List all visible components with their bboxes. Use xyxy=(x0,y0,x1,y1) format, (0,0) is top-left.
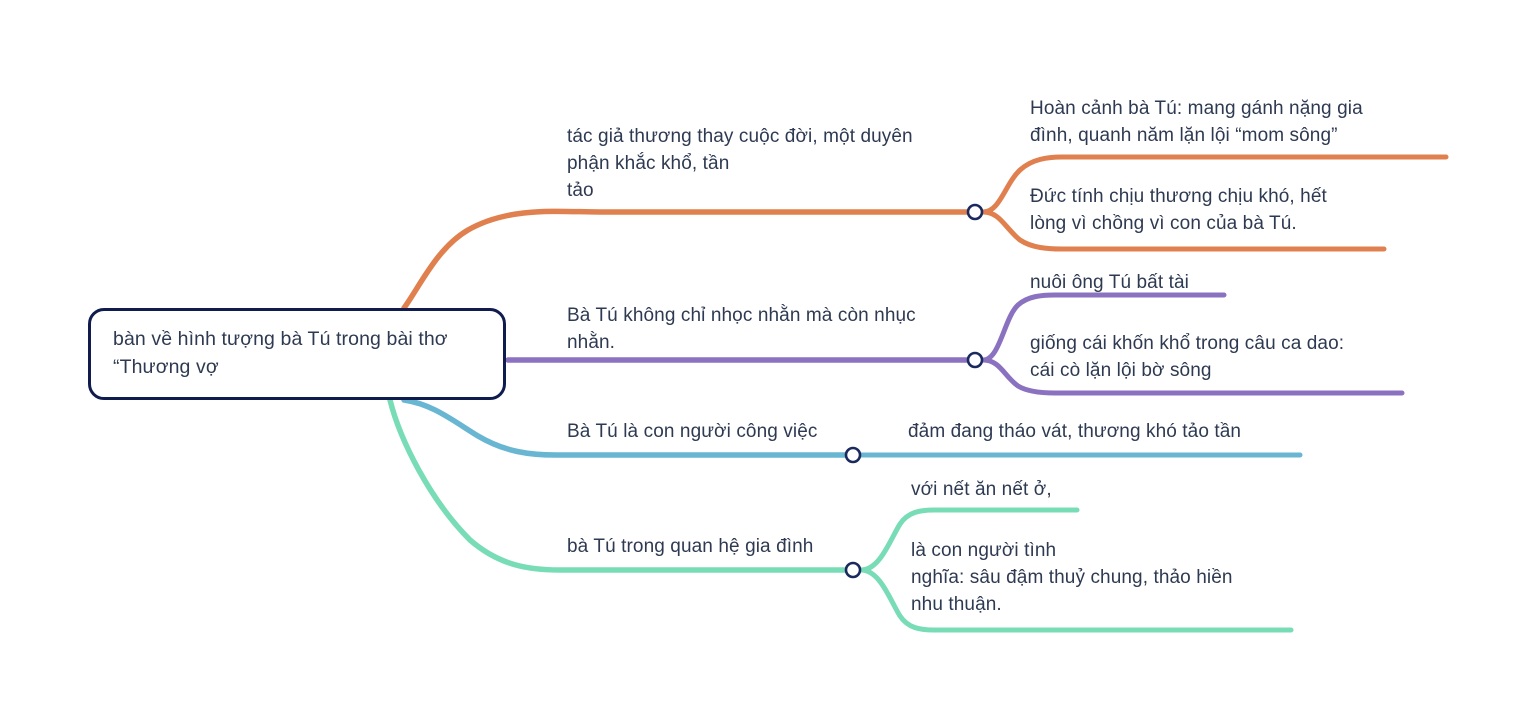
branch-3-label[interactable]: Bà Tú là con người công việc xyxy=(567,419,867,446)
mindmap-canvas: bàn về hình tượng bà Tú trong bài thơ “T… xyxy=(0,0,1513,726)
junction-branch-3 xyxy=(846,448,860,462)
branch-2-child-1-label[interactable]: nuôi ông Tú bất tài xyxy=(1030,270,1420,297)
branch-2-label[interactable]: Bà Tú không chỉ nhọc nhằn mà còn nhục nh… xyxy=(567,303,967,357)
connector-root-to-branch-1 xyxy=(404,211,968,308)
branch-1-child-1-label[interactable]: Hoàn cảnh bà Tú: mang gánh nặng gia đình… xyxy=(1030,96,1435,150)
branch-1-child-2-label[interactable]: Đức tính chịu thương chịu khó, hết lòng … xyxy=(1030,184,1405,238)
branch-2-child-2-label[interactable]: giống cái khốn khổ trong câu ca dao: cái… xyxy=(1030,331,1420,385)
junction-branch-1 xyxy=(968,205,982,219)
branch-4-child-2-label[interactable]: là con người tình nghĩa: sâu đậm thuỷ ch… xyxy=(911,538,1311,619)
branch-3-child-1-label[interactable]: đảm đang tháo vát, thương khó tảo tần xyxy=(908,419,1308,446)
branch-1-label[interactable]: tác giả thương thay cuộc đời, một duyên … xyxy=(567,124,967,205)
junction-branch-2 xyxy=(968,353,982,367)
root-node-label: bàn về hình tượng bà Tú trong bài thơ “T… xyxy=(113,326,448,381)
junction-branch-4 xyxy=(846,563,860,577)
root-node[interactable]: bàn về hình tượng bà Tú trong bài thơ “T… xyxy=(88,308,506,400)
branch-4-child-1-label[interactable]: với nết ăn nết ở, xyxy=(911,477,1291,504)
branch-4-label[interactable]: bà Tú trong quan hệ gia đình xyxy=(567,534,867,561)
